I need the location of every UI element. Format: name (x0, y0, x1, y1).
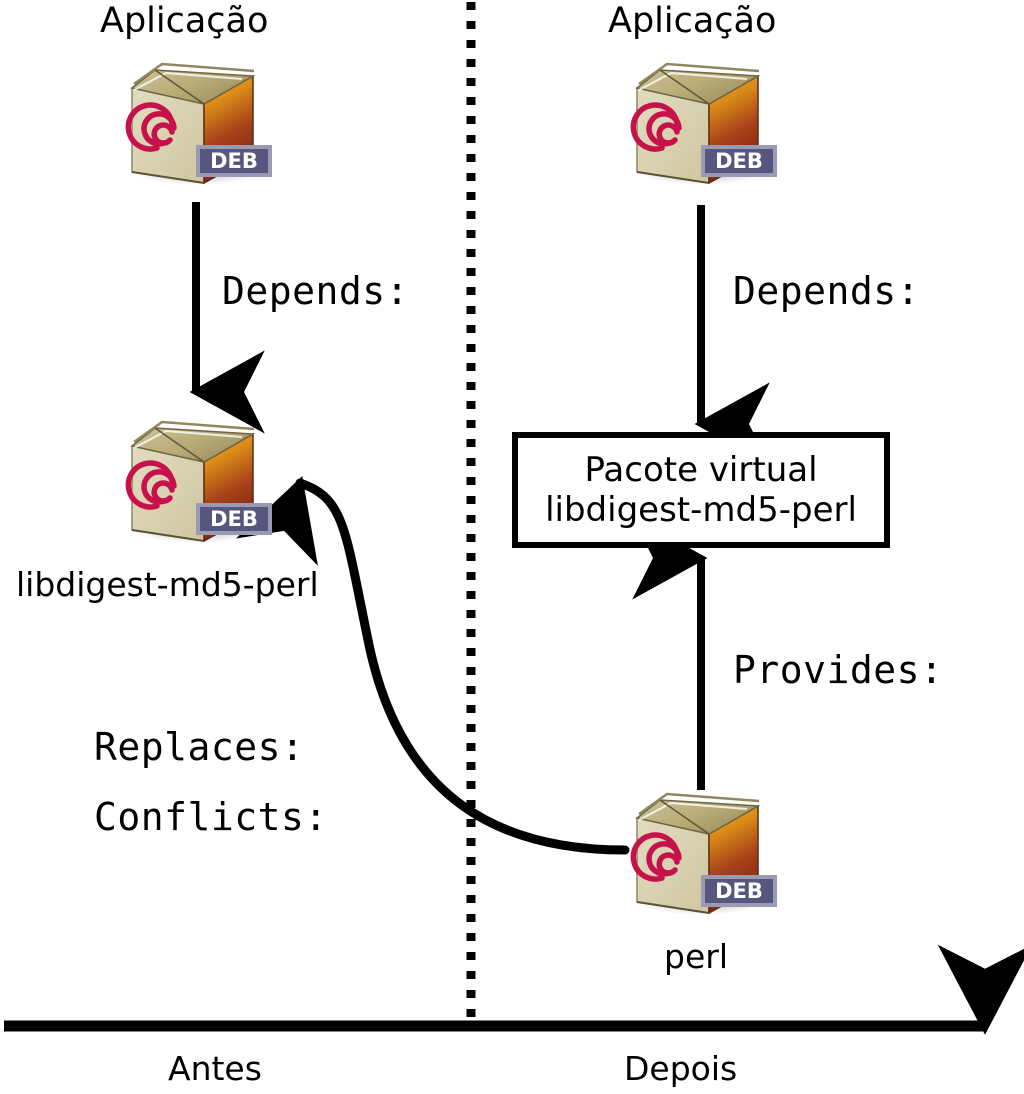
package-label-perl: perl (664, 940, 728, 973)
relation-provides: Provides: (733, 651, 943, 689)
deb-badge-text: DEB (210, 149, 258, 173)
package-icon-app-right (633, 64, 763, 185)
relation-conflicts: Conflicts: (94, 798, 328, 836)
virtual-package-line2: libdigest-md5-perl (545, 490, 857, 530)
relation-depends-left: Depends: (222, 272, 409, 310)
relation-depends-right: Depends: (733, 272, 920, 310)
deb-badge-perl: DEB (701, 875, 777, 907)
deb-badge-text: DEB (715, 149, 763, 173)
package-icon-libdigest (128, 422, 258, 543)
package-icon-app-left (128, 64, 258, 185)
relation-replaces: Replaces: (94, 728, 304, 766)
package-icon-perl (633, 794, 763, 915)
timeline-label-antes: Antes (168, 1052, 262, 1085)
diagram-canvas: DEB DEB DEB DEB Aplicação Aplicação Depe… (0, 0, 1024, 1094)
deb-badge-text: DEB (715, 879, 763, 903)
virtual-package-line1: Pacote virtual (584, 450, 817, 490)
timeline-label-depois: Depois (624, 1052, 737, 1085)
deb-badge-libdigest: DEB (196, 503, 272, 535)
package-label-libdigest: libdigest-md5-perl (16, 568, 319, 601)
title-aplicacao-left: Aplicação (100, 4, 268, 39)
deb-badge-app-right: DEB (701, 145, 777, 177)
title-aplicacao-right: Aplicação (608, 4, 776, 39)
deb-badge-app-left: DEB (196, 145, 272, 177)
deb-badge-text: DEB (210, 507, 258, 531)
virtual-package-box: Pacote virtual libdigest-md5-perl (512, 432, 890, 548)
